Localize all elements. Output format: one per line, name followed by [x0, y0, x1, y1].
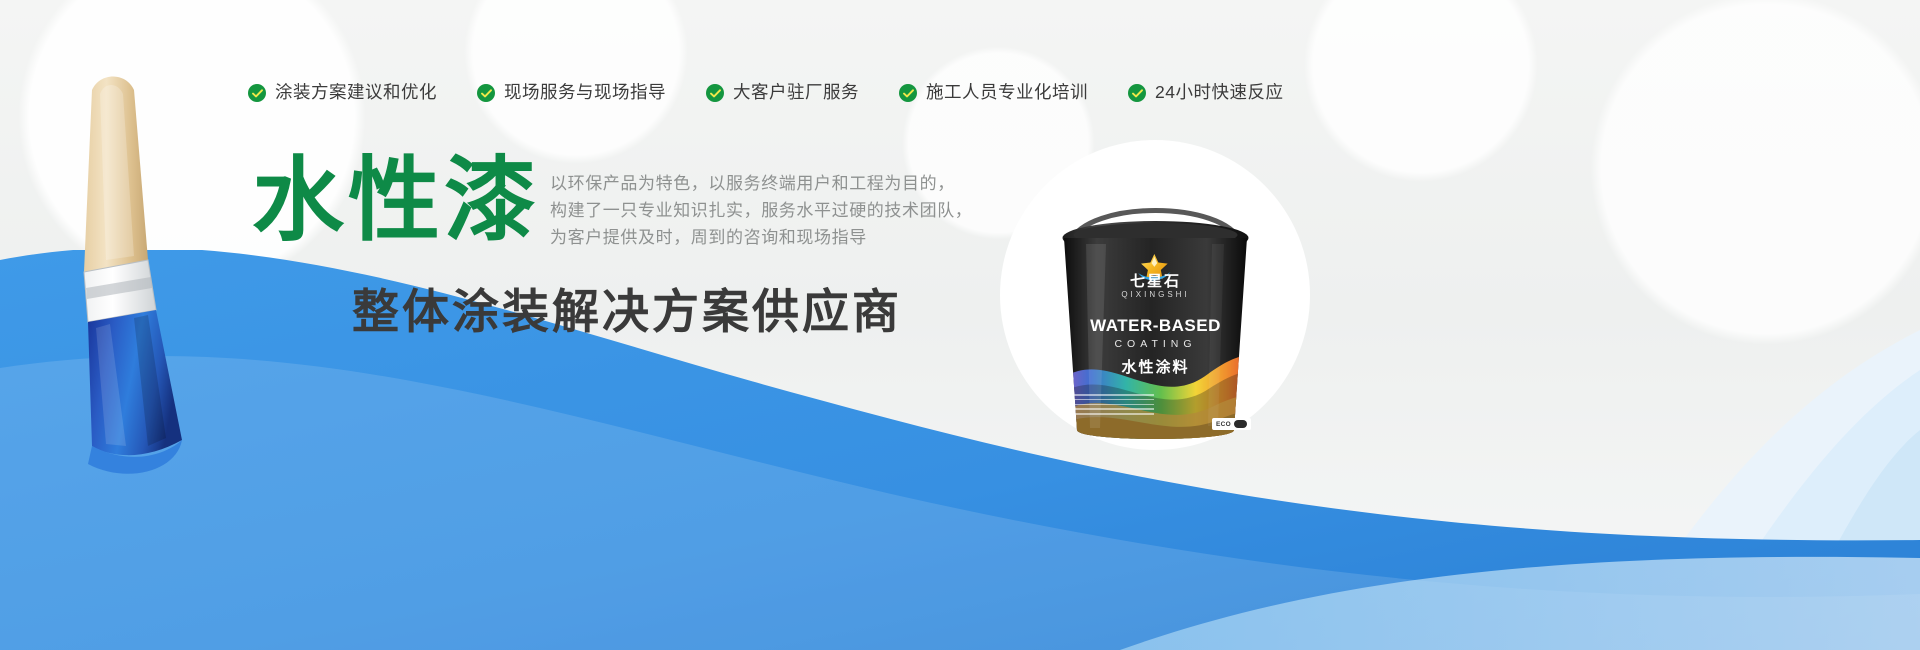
hero-paragraph-line: 构建了一只专业知识扎实，服务水平过硬的技术团队， — [550, 197, 972, 224]
check-circle-icon — [899, 84, 917, 102]
feature-item[interactable]: 施工人员专业化培训 — [899, 84, 1088, 102]
feature-label: 施工人员专业化培训 — [926, 84, 1088, 102]
page-title: 水性漆 — [252, 155, 540, 247]
feature-item[interactable]: 24小时快速反应 — [1128, 84, 1283, 102]
eco-badge: ECO — [1212, 418, 1251, 430]
hero-paragraph-line: 为客户提供及时，周到的咨询和现场指导 — [550, 224, 972, 251]
feature-item[interactable]: 大客户驻厂服务 — [706, 84, 859, 102]
hero-paragraph: 以环保产品为特色，以服务终端用户和工程为目的， 构建了一只专业知识扎实，服务水平… — [550, 170, 972, 251]
eco-mark-icon — [1234, 420, 1247, 428]
product-image: 七星石 QIXINGSHI WATER-BASED COATING 水性涂料 E… — [1000, 140, 1310, 450]
check-circle-icon — [706, 84, 724, 102]
product-fineprint — [1064, 394, 1154, 418]
feature-label: 大客户驻厂服务 — [733, 84, 859, 102]
feature-item[interactable]: 涂装方案建议和优化 — [248, 84, 437, 102]
paint-bucket: 七星石 QIXINGSHI WATER-BASED COATING 水性涂料 E… — [1048, 198, 1263, 448]
paint-brush-icon — [30, 60, 260, 490]
eco-label: ECO — [1216, 421, 1231, 428]
hero-subtitle: 整体涂装解决方案供应商 — [352, 288, 902, 335]
feature-item[interactable]: 现场服务与现场指导 — [477, 84, 666, 102]
feature-label: 现场服务与现场指导 — [504, 84, 666, 102]
check-circle-icon — [1128, 84, 1146, 102]
blue-wave-shape — [0, 250, 1920, 650]
feature-label: 涂装方案建议和优化 — [275, 84, 437, 102]
check-circle-icon — [248, 84, 266, 102]
hero-banner: 涂装方案建议和优化 现场服务与现场指导 大客户驻厂服务 施工人员专业化培训 24… — [0, 0, 1920, 650]
check-circle-icon — [477, 84, 495, 102]
feature-label: 24小时快速反应 — [1155, 84, 1283, 102]
feature-list: 涂装方案建议和优化 现场服务与现场指导 大客户驻厂服务 施工人员专业化培训 24… — [248, 84, 1283, 102]
hero-paragraph-line: 以环保产品为特色，以服务终端用户和工程为目的， — [550, 170, 972, 197]
